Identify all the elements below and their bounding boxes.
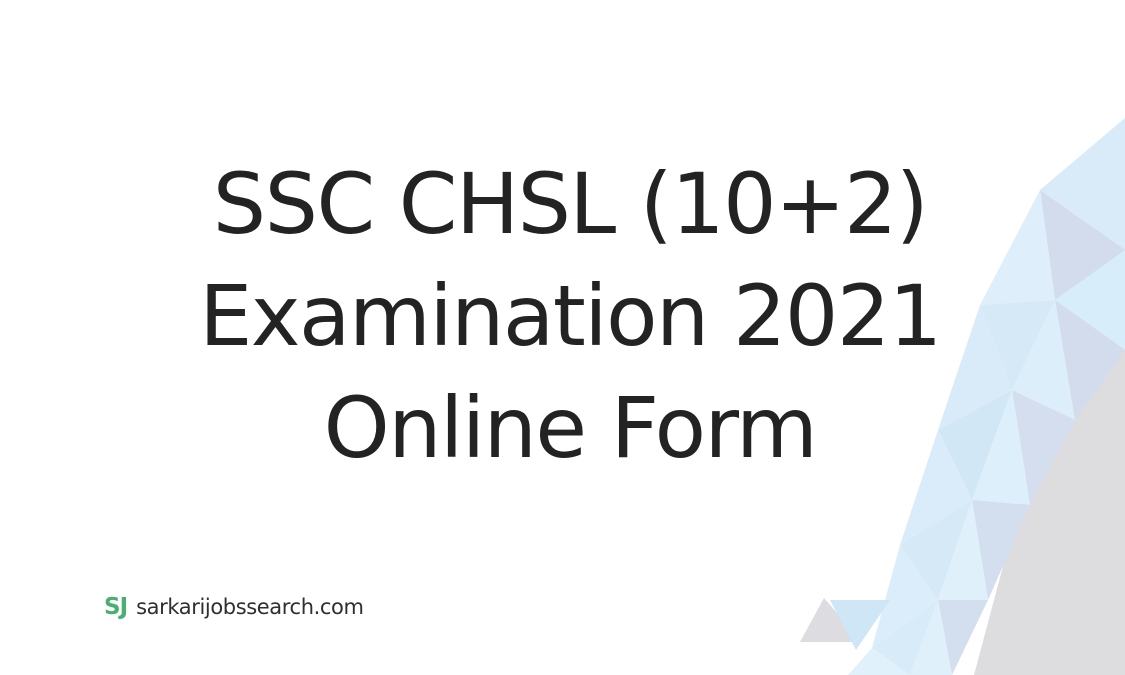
blue-triangle xyxy=(0,420,106,512)
blue-triangle xyxy=(0,262,112,390)
blue-triangle xyxy=(46,118,160,262)
blue-triangle xyxy=(0,390,106,500)
pale-triangle xyxy=(1055,300,1125,420)
accent-top-left xyxy=(250,25,337,73)
pale-triangle xyxy=(1040,190,1125,300)
accent-bottom-left xyxy=(34,591,107,641)
pale-triangle xyxy=(910,600,952,675)
triangle-right-icon xyxy=(285,26,337,66)
brand-mark-sj: SJ xyxy=(104,596,127,619)
pale-triangle xyxy=(980,300,1055,390)
blue-triangle xyxy=(0,592,62,675)
blue-triangle xyxy=(106,318,165,420)
blue-triangle xyxy=(58,420,132,512)
title-line-2: Examination 2021 xyxy=(175,260,965,372)
page-title: SSC CHSL (10+2) Examination 2021 Online … xyxy=(175,148,965,484)
pale-triangle xyxy=(1012,390,1075,505)
triangle-up-icon xyxy=(800,598,862,642)
pale-triangle xyxy=(972,390,1030,505)
brand-logo[interactable]: SJ sarkarijobssearch.com xyxy=(104,596,364,619)
blue-triangle xyxy=(0,512,96,600)
title-line-3: Online Form xyxy=(175,372,965,484)
pale-triangle xyxy=(1055,250,1125,350)
pale-triangle xyxy=(938,500,988,600)
pale-triangle xyxy=(972,500,1030,600)
pale-triangle xyxy=(938,600,988,675)
banner-canvas: SSC CHSL (10+2) Examination 2021 Online … xyxy=(0,0,1125,675)
pale-triangle xyxy=(1012,300,1075,420)
triangle-down-icon xyxy=(830,600,890,650)
triangle-up-icon xyxy=(250,25,337,73)
pale-triangle xyxy=(900,500,972,600)
pale-triangle xyxy=(872,600,938,675)
title-line-1: SSC CHSL (10+2) xyxy=(175,148,965,260)
pale-triangle xyxy=(872,545,938,648)
triangle-right-icon xyxy=(55,592,107,636)
blue-triangle xyxy=(132,0,262,112)
brand-domain-text: sarkarijobssearch.com xyxy=(136,597,363,618)
gray-diagonal-band xyxy=(974,120,1125,675)
blue-triangle xyxy=(0,318,112,420)
pale-triangle xyxy=(980,190,1055,305)
accent-bottom-right xyxy=(800,598,890,650)
blue-triangle xyxy=(88,0,200,118)
blue-triangle xyxy=(0,500,58,600)
triangle-up-icon xyxy=(34,591,106,641)
pale-triangle xyxy=(848,648,910,675)
pale-triangle xyxy=(1040,118,1125,250)
